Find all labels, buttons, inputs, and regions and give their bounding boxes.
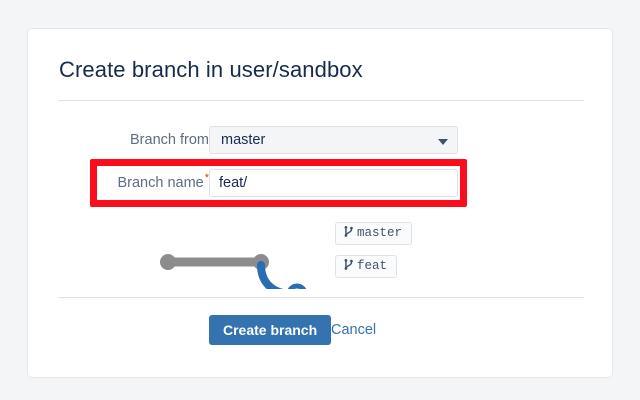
branch-from-row: Branch from master xyxy=(28,126,612,154)
branch-from-value: master xyxy=(221,127,265,154)
branch-graph xyxy=(128,219,328,289)
graph-node-base-start xyxy=(160,254,176,270)
branch-icon xyxy=(343,258,354,271)
branch-name-label-text: Branch name xyxy=(117,175,203,191)
branch-tag-feat-label: feat xyxy=(357,259,387,273)
branch-name-row: Branch name* xyxy=(28,169,612,197)
branch-tag-master-label: master xyxy=(357,226,402,240)
create-branch-button[interactable]: Create branch xyxy=(209,315,331,345)
branch-from-select[interactable]: master xyxy=(209,126,458,154)
branch-name-input[interactable] xyxy=(209,169,458,197)
branch-name-label: Branch name* xyxy=(27,169,209,197)
branch-icon xyxy=(343,225,354,238)
chevron-down-icon xyxy=(438,139,448,145)
cancel-link[interactable]: Cancel xyxy=(331,315,376,345)
branch-tag-feat: feat xyxy=(335,255,397,278)
branch-tag-master: master xyxy=(335,222,412,245)
divider-top xyxy=(58,100,584,101)
branch-from-label: Branch from xyxy=(27,126,209,154)
create-branch-dialog: Create branch in user/sandbox Branch fro… xyxy=(27,28,613,378)
graph-node-new-branch xyxy=(289,286,305,289)
divider-bottom xyxy=(58,297,584,298)
page-title: Create branch in user/sandbox xyxy=(59,57,363,83)
